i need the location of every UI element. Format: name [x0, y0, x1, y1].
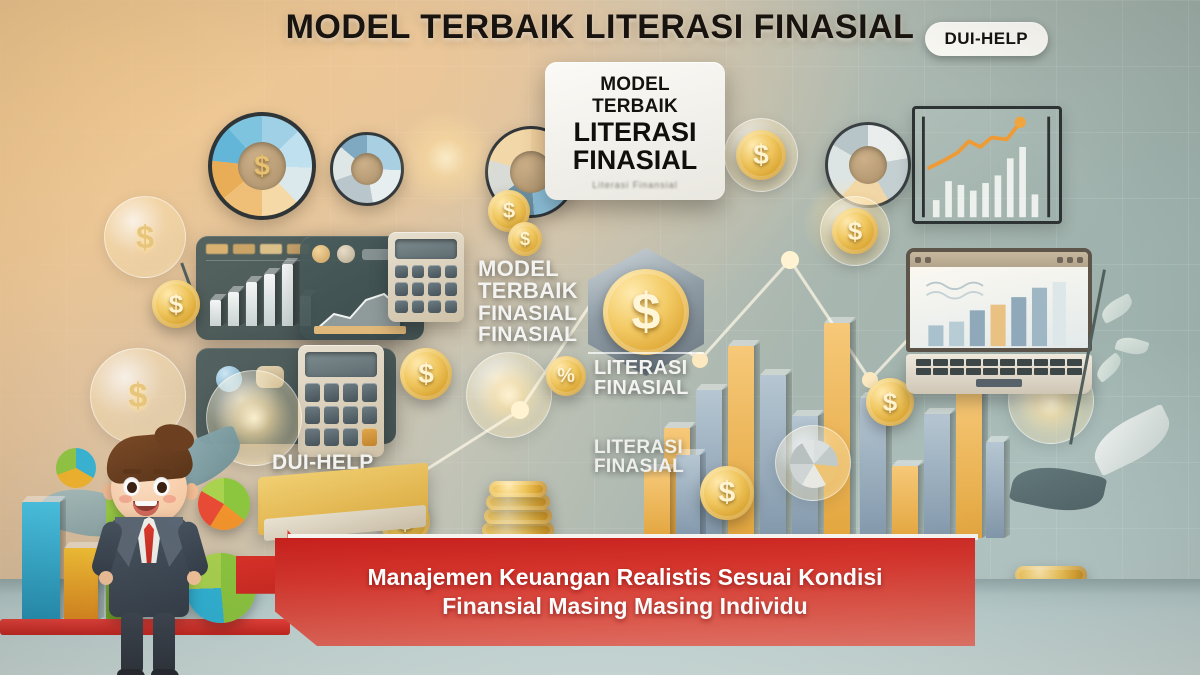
vignette-overlay — [0, 0, 1200, 675]
dollar-icon: $ — [246, 150, 278, 182]
poster-canvas: $ — [0, 0, 1200, 675]
